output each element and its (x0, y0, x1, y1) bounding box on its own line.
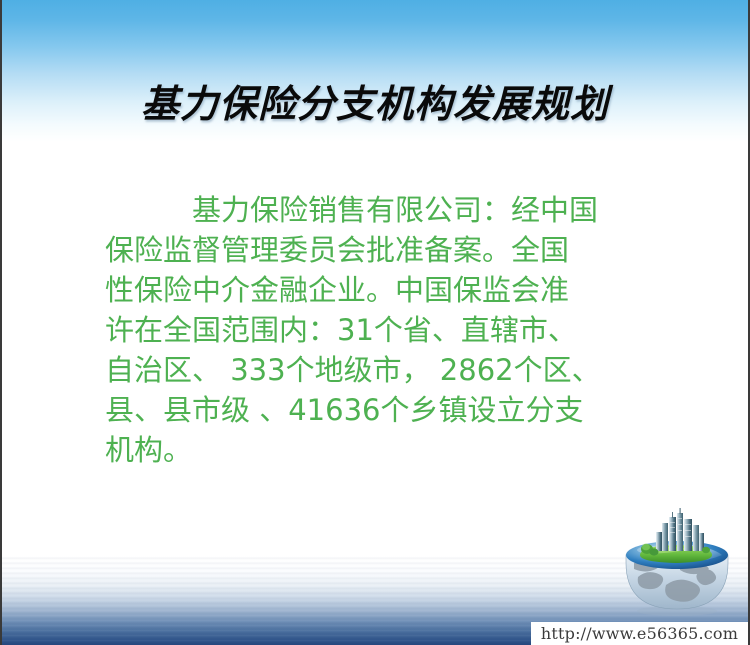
slide-body-text: 基力保险销售有限公司：经中国 保险监督管理委员会批准备案。全国 性保险中介金融企… (105, 190, 667, 470)
watermark-url: http://www.e56365.com (541, 626, 738, 642)
slide-title-container: 基力保险分支机构发展规划 (2, 58, 748, 151)
watermark-box: http://www.e56365.com (531, 622, 748, 645)
presentation-slide: 基力保险分支机构发展规划 基力保险销售有限公司：经中国 保险监督管理委员会批准备… (0, 0, 750, 645)
trees (641, 544, 710, 556)
slide-title: 基力保险分支机构发展规划 (141, 83, 609, 125)
city-skyline (656, 508, 704, 551)
slide-body-container: 基力保险销售有限公司：经中国 保险监督管理委员会批准备案。全国 性保险中介金融企… (105, 190, 667, 470)
earth-city-globe-icon (618, 505, 736, 617)
